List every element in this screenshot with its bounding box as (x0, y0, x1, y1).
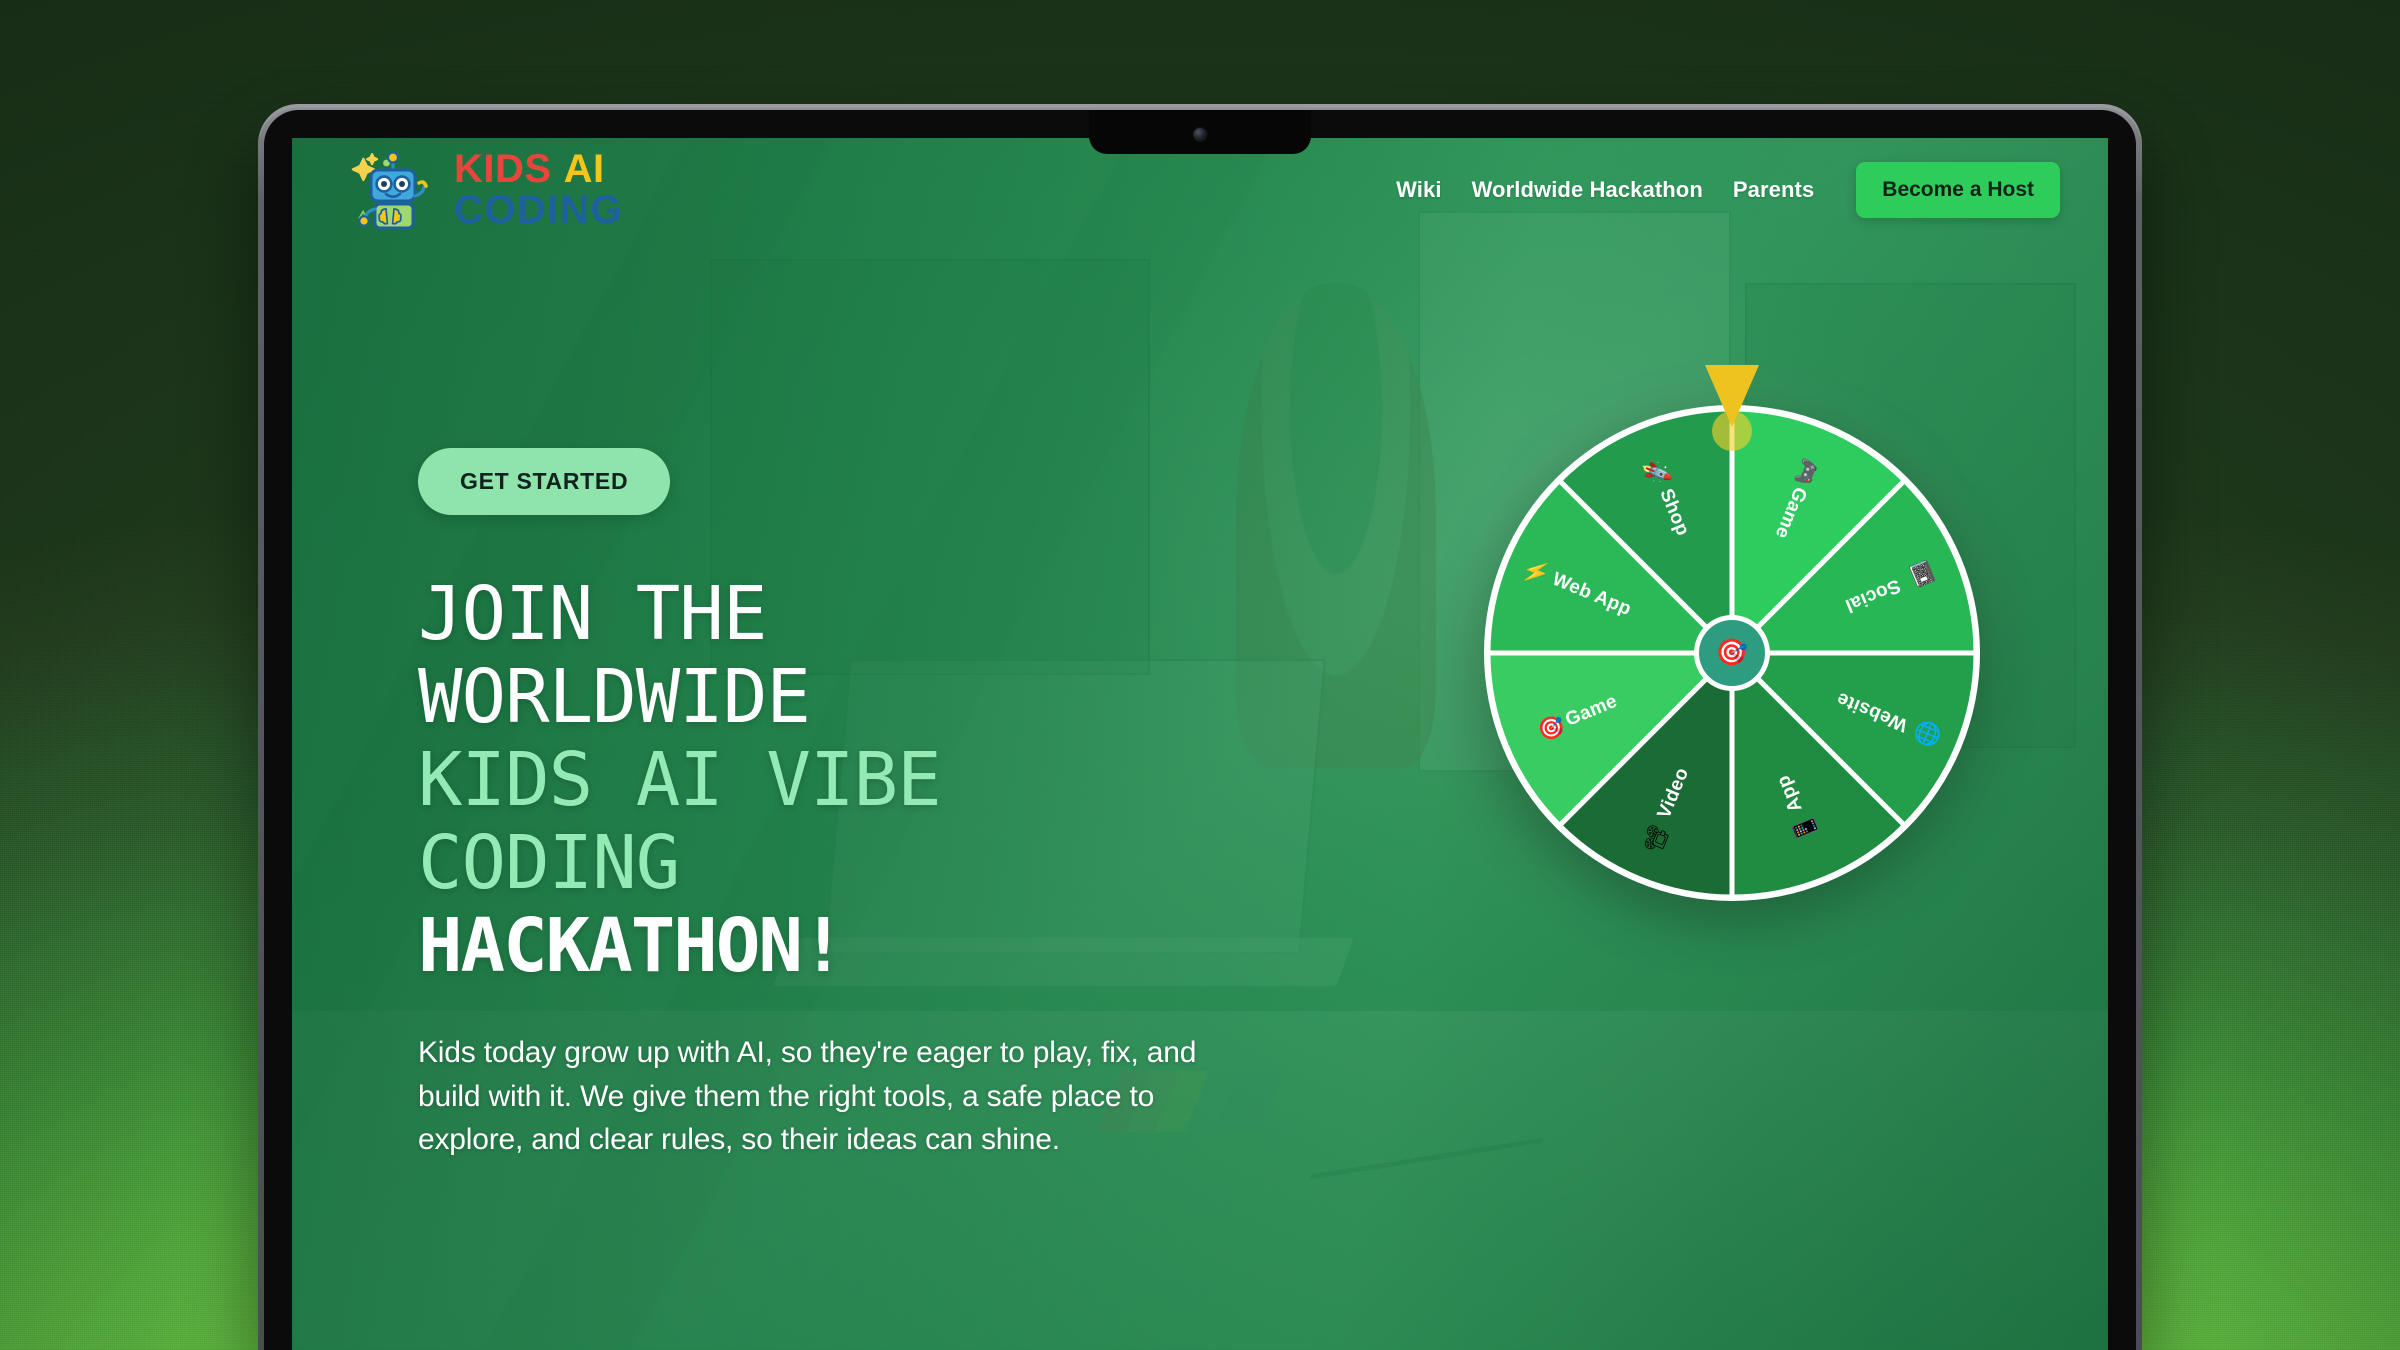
spin-wheel[interactable]: Game🎮Social📓Website🌐App📱Video📽Game🎯Web A… (1482, 403, 1982, 903)
get-started-button[interactable]: GET STARTED (418, 448, 670, 515)
headline-line-4: CODING (418, 822, 1268, 905)
headline-line-1: JOIN THE (418, 573, 1268, 656)
brand-kids-text: KIDS (454, 151, 552, 188)
wheel-hub-dart-target-icon: 🎯 (1716, 637, 1748, 667)
triangle-pointer-icon (1705, 365, 1759, 427)
brand-logo[interactable]: KIDS AI CODING (346, 147, 623, 233)
laptop-notch (1089, 110, 1311, 154)
headline-line-3: KIDS AI VIBE (418, 739, 1268, 822)
screenshot-stage: KIDS AI CODING Wiki Worldwide Hackathon … (0, 0, 2400, 1350)
brand-ai-text: AI (564, 151, 605, 188)
brand-coding-text: CODING (454, 192, 623, 229)
nav-worldwide-hackathon[interactable]: Worldwide Hackathon (1472, 177, 1703, 203)
spin-wheel-widget[interactable]: Game🎮Social📓Website🌐App📱Video📽Game🎯Web A… (1482, 381, 1982, 881)
nav-parents[interactable]: Parents (1733, 177, 1814, 203)
camera-dot-icon (1194, 128, 1207, 141)
laptop-device-frame: KIDS AI CODING Wiki Worldwide Hackathon … (258, 104, 2142, 1350)
brand-wordmark: KIDS AI CODING (454, 151, 623, 229)
headline-line-5: HACKATHON! (418, 905, 1268, 988)
main-navigation: Wiki Worldwide Hackathon Parents Become … (1396, 162, 2060, 218)
hero-copy-block: GET STARTED JOIN THE WORLDWIDE KIDS AI V… (418, 448, 1268, 1162)
robot-mascot-icon (346, 147, 440, 233)
become-a-host-button[interactable]: Become a Host (1856, 162, 2060, 218)
hero-section: GET STARTED JOIN THE WORLDWIDE KIDS AI V… (292, 138, 2108, 1350)
browser-viewport: KIDS AI CODING Wiki Worldwide Hackathon … (292, 138, 2108, 1350)
hero-headline: JOIN THE WORLDWIDE KIDS AI VIBE CODING H… (418, 573, 1268, 987)
headline-line-2: WORLDWIDE (418, 656, 1268, 739)
laptop-bezel: KIDS AI CODING Wiki Worldwide Hackathon … (264, 110, 2136, 1350)
hero-description: Kids today grow up with AI, so they're e… (418, 1031, 1218, 1162)
nav-wiki[interactable]: Wiki (1396, 177, 1441, 203)
